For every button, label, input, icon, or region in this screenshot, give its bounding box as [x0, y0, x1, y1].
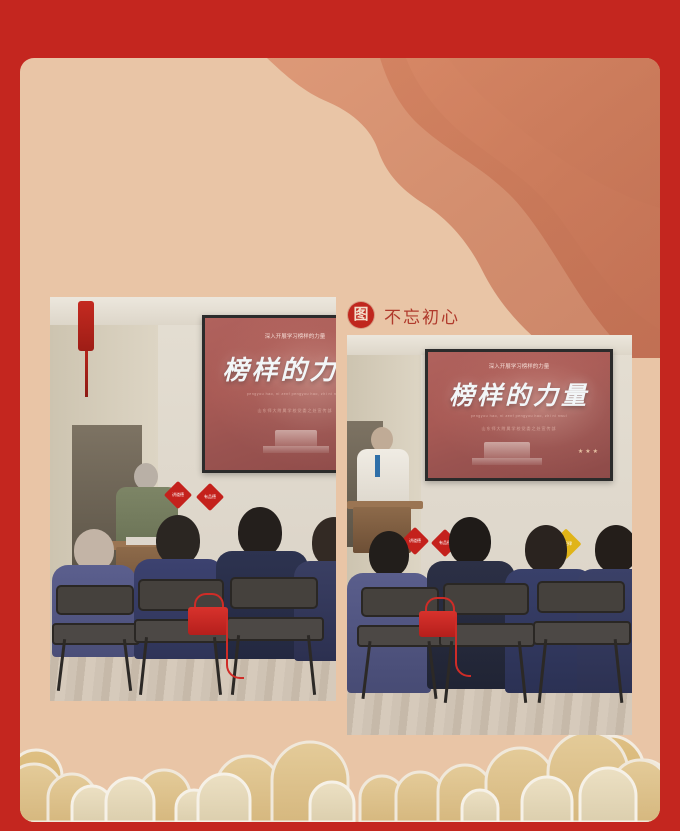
- stars-graphic: ★★★: [578, 448, 600, 455]
- screen-organization: 山东师大附属学校党委之处宣传部: [205, 408, 336, 414]
- photo-scene: 深入开展学习榜样的力量 榜样的力量 pengyou hao, ni zenf p…: [50, 297, 336, 701]
- gate-base-graphic: [472, 458, 542, 465]
- audience-head: [525, 525, 567, 573]
- screen-pinyin: pengyou hao, ni zenf pengyou hao, zhi ni…: [428, 414, 610, 418]
- image-badge-icon: 图: [348, 302, 374, 328]
- wall-sign-diamond: 有品德: [196, 483, 224, 511]
- gate-base-graphic: [263, 446, 329, 453]
- speaker-body: [357, 449, 409, 507]
- chair-back: [537, 581, 625, 613]
- photo-caption: 图 不忘初心: [348, 302, 460, 328]
- screen-headline: 榜样的力量: [205, 350, 336, 387]
- projection-screen: 深入开展学习榜样的力量 榜样的力量 pengyou hao, ni zenf p…: [425, 349, 613, 481]
- chair-back: [56, 585, 134, 615]
- photo-lecture-closeup[interactable]: 深入开展学习榜样的力量 榜样的力量 pengyou hao, ni zenf p…: [347, 335, 632, 735]
- auspicious-cloud-decoration: [20, 730, 660, 822]
- screen-surface: 深入开展学习榜样的力量 榜样的力量 pengyou hao, ni zenf p…: [428, 352, 610, 478]
- chair-back: [230, 577, 318, 609]
- speaker-head: [134, 463, 158, 490]
- audience-head: [238, 507, 282, 557]
- wall-sign-diamond: 讲道德: [164, 481, 192, 509]
- poster-page: 深入开展学习榜样的力量 榜样的力量 pengyou hao, ni zenf p…: [0, 0, 680, 831]
- tiananmen-gate-graphic: [275, 430, 317, 446]
- audience-head: [595, 525, 632, 573]
- audience-head: [369, 531, 409, 577]
- audience-torso: [294, 561, 336, 661]
- chinese-knot-decoration: [78, 301, 94, 351]
- screen-surface: 深入开展学习榜样的力量 榜样的力量 pengyou hao, ni zenf p…: [205, 318, 336, 470]
- audience-head: [156, 515, 200, 565]
- content-card: 深入开展学习榜样的力量 榜样的力量 pengyou hao, ni zenf p…: [20, 58, 660, 822]
- screen-organization: 山东师大附属学校党委之处宣传部: [428, 426, 610, 432]
- chair-back: [443, 583, 529, 615]
- photo-lecture-wide[interactable]: 深入开展学习榜样的力量 榜样的力量 pengyou hao, ni zenf p…: [50, 297, 336, 701]
- red-handbag: [419, 611, 457, 637]
- handbag-strap: [455, 617, 471, 677]
- handbag-strap: [226, 613, 244, 679]
- screen-subtitle: 深入开展学习榜样的力量: [428, 362, 610, 370]
- screen-headline: 榜样的力量: [428, 376, 610, 412]
- screen-subtitle: 深入开展学习榜样的力量: [205, 332, 336, 340]
- red-handbag: [188, 607, 228, 635]
- caption-label: 不忘初心: [384, 303, 460, 328]
- audience-head: [449, 517, 491, 565]
- screen-pinyin: pengyou hao, ni zenf pengyou hao, zhi ni…: [205, 392, 336, 396]
- photo-scene: 深入开展学习榜样的力量 榜样的力量 pengyou hao, ni zenf p…: [347, 335, 632, 735]
- tiananmen-gate-graphic: [484, 442, 530, 458]
- projection-screen: 深入开展学习榜样的力量 榜样的力量 pengyou hao, ni zenf p…: [202, 315, 336, 473]
- speaker-lanyard: [375, 455, 380, 477]
